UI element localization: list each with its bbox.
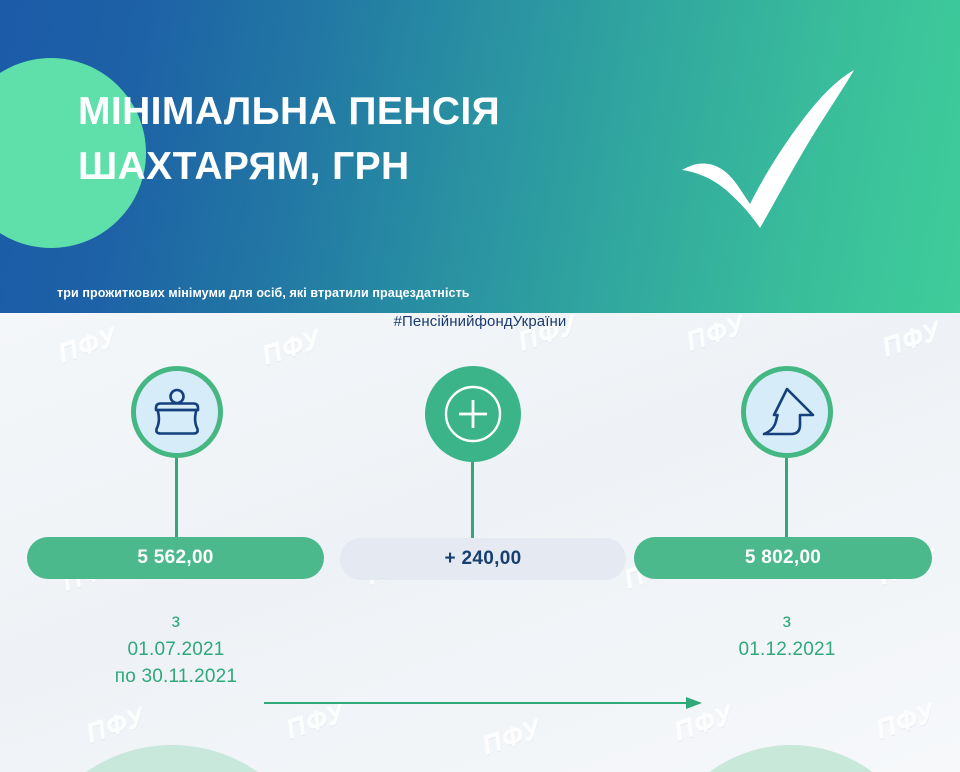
wallet-icon [136,371,218,453]
connector-stem-left [175,456,178,538]
value-pill-after: 5 802,00 [634,537,932,579]
pale-circle-right [655,745,927,772]
date-caption-before: з 01.07.2021 по 30.11.2021 [70,608,282,691]
header-subtitle: три прожиткових мінімуми для осіб, які в… [57,286,470,300]
checkmark-icon [668,58,878,228]
pale-circle-left [22,745,322,772]
connector-stem-middle [471,460,474,538]
node-circle-increase [425,366,521,462]
node-circle-after [741,366,833,458]
hashtag-label: #ПенсійнийфондУкраїни [0,313,960,330]
arrow-up-icon [746,371,828,453]
value-pill-before: 5 562,00 [27,537,324,579]
right-arrow-icon [264,694,704,712]
connector-stem-right [785,456,788,538]
date-caption-after: з 01.12.2021 [687,608,887,663]
page-title: МІНІМАЛЬНА ПЕНСІЯ ШАХТАРЯМ, ГРН [78,84,678,195]
header-banner: МІНІМАЛЬНА ПЕНСІЯ ШАХТАРЯМ, ГРН три прож… [0,0,960,313]
value-pill-increase: + 240,00 [340,538,626,580]
plus-circle-icon [425,366,521,462]
infographic-canvas: МІНІМАЛЬНА ПЕНСІЯ ШАХТАРЯМ, ГРН три прож… [0,0,960,772]
node-circle-before [131,366,223,458]
